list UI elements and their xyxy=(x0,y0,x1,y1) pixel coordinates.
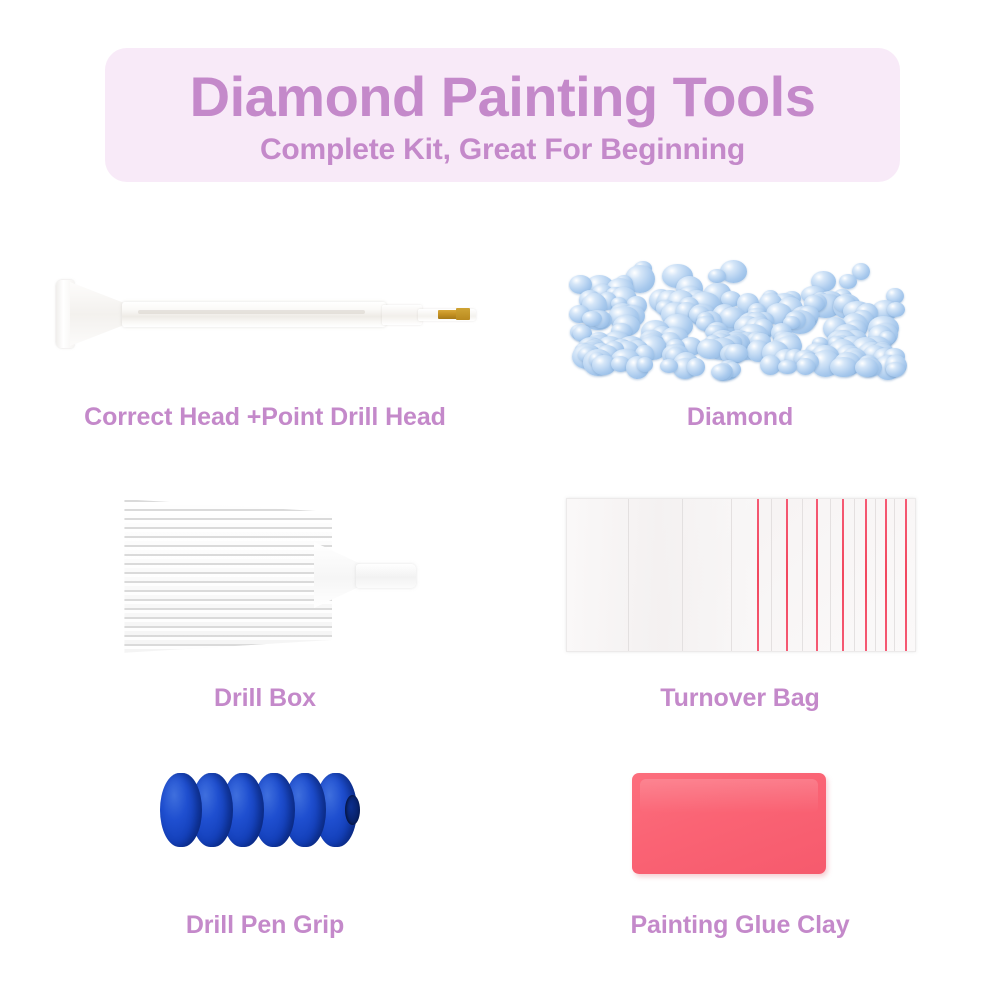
drill-pen-grip-illustration xyxy=(160,773,360,849)
bag-seal-line xyxy=(842,499,844,651)
diamond-drill-bead xyxy=(839,274,857,289)
bag-seal-line xyxy=(905,499,907,651)
product-cell-drill-pen-grip: Drill Pen Grip xyxy=(30,755,500,940)
diamond-drill-bead xyxy=(708,269,727,283)
product-label-drill-box: Drill Box xyxy=(30,684,500,713)
product-label-painting-glue-clay: Painting Glue Clay xyxy=(520,911,960,940)
bag-fold-line xyxy=(802,499,803,651)
diamond-drill-bead xyxy=(887,302,905,317)
product-label-turnover-bag: Turnover Bag xyxy=(520,684,960,713)
product-image-turnover-bag xyxy=(520,480,960,670)
product-image-correct-head-point-drill-head xyxy=(30,230,500,395)
tray-neck xyxy=(314,542,362,608)
header-banner: Diamond Painting Tools Complete Kit, Gre… xyxy=(105,48,900,182)
product-label-diamond: Diamond xyxy=(520,403,960,432)
pen-collar xyxy=(382,305,422,325)
pen-flare-cone xyxy=(70,282,126,346)
diamond-drills-pile xyxy=(568,236,908,386)
diamond-drill-bead xyxy=(778,360,797,375)
pen-brass-tip-end xyxy=(456,308,470,320)
bag-seal-line xyxy=(885,499,887,651)
bag-seal-line xyxy=(786,499,788,651)
diamond-drill-bead xyxy=(637,357,653,372)
bag-fold-line xyxy=(771,499,772,651)
product-image-drill-box xyxy=(30,480,500,670)
page-subtitle: Complete Kit, Great For Beginning xyxy=(260,125,745,166)
product-cell-correct-head-point-drill-head: Correct Head +Point Drill Head xyxy=(30,230,500,432)
product-image-painting-glue-clay xyxy=(520,755,960,885)
diamond-drill-bead xyxy=(711,364,731,380)
diamond-drill-bead xyxy=(796,358,815,375)
product-cell-drill-box: Drill Box xyxy=(30,480,500,713)
tray-handle xyxy=(356,564,416,588)
bag-fold-line xyxy=(628,499,629,651)
product-cell-turnover-bag: Turnover Bag xyxy=(520,480,960,713)
bag-fold-line xyxy=(682,499,683,651)
pen-barrel xyxy=(122,302,386,327)
drill-pen-illustration xyxy=(56,266,476,361)
bag-fold-line xyxy=(854,499,855,651)
poster-root: Diamond Painting Tools Complete Kit, Gre… xyxy=(0,0,1000,1000)
diamond-drill-bead xyxy=(660,359,679,373)
product-cell-painting-glue-clay: Painting Glue Clay xyxy=(520,755,960,940)
bag-fold-line xyxy=(875,499,876,651)
diamond-drill-bead xyxy=(830,357,856,378)
diamond-drill-bead xyxy=(886,362,905,377)
drill-tray-illustration xyxy=(118,490,418,662)
diamond-drill-bead xyxy=(855,358,878,377)
bag-seal-line xyxy=(816,499,818,651)
product-image-drill-pen-grip xyxy=(30,755,500,885)
product-label-correct-head-point-drill-head: Correct Head +Point Drill Head xyxy=(30,403,500,432)
grip-segment xyxy=(160,773,202,847)
bag-fold-line xyxy=(830,499,831,651)
glue-clay-block xyxy=(632,773,826,874)
diamond-drill-bead xyxy=(687,358,705,376)
diamond-drill-bead xyxy=(582,311,602,326)
turnover-bag-illustration xyxy=(566,498,916,652)
bag-seal-line xyxy=(865,499,867,651)
tray-grooves xyxy=(118,496,332,656)
product-image-diamond xyxy=(520,230,960,395)
bag-seal-line xyxy=(757,499,759,651)
grip-bore-hole xyxy=(345,795,360,825)
bag-fold-line xyxy=(894,499,895,651)
page-title: Diamond Painting Tools xyxy=(190,68,816,125)
product-cell-diamond: Diamond xyxy=(520,230,960,432)
product-label-drill-pen-grip: Drill Pen Grip xyxy=(30,911,500,940)
bag-fold-line xyxy=(731,499,732,651)
glue-clay-gloss xyxy=(640,779,818,813)
